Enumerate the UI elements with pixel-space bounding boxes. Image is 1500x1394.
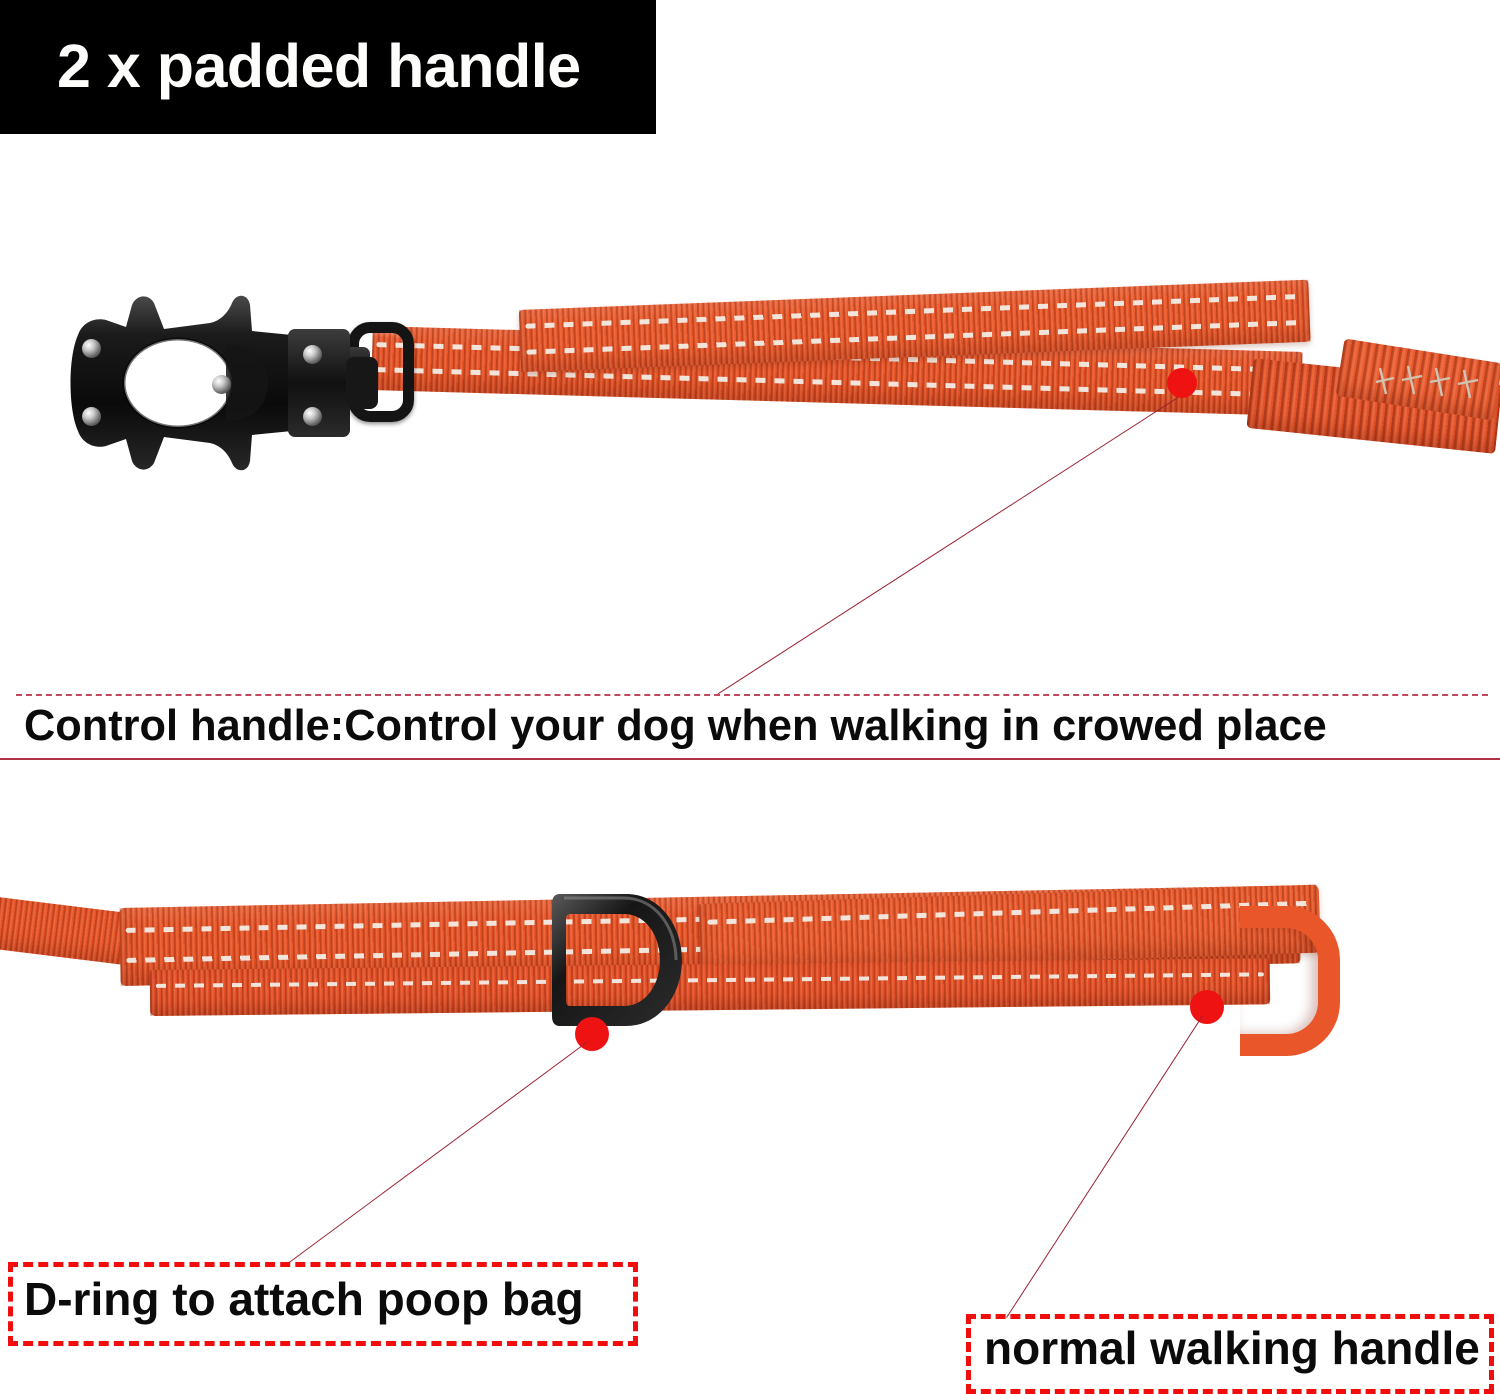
header-banner: 2 x padded handle (0, 0, 656, 134)
snap-clip-hardware (60, 283, 390, 483)
control-handle-marker (1167, 368, 1197, 398)
control-handle-caption: Control handle:Control your dog when wal… (24, 700, 1327, 752)
top-product-photo (0, 250, 1500, 550)
bottom-product-photo (0, 860, 1500, 1120)
walking-handle-caption: normal walking handle (984, 1318, 1480, 1378)
caption-bottom-rule (0, 758, 1500, 760)
caption-top-rule (16, 694, 1488, 696)
rivet (303, 407, 322, 426)
d-ring-hardware (540, 880, 690, 1040)
d-ring-caption: D-ring to attach poop bag (24, 1268, 584, 1330)
rivet (82, 339, 101, 358)
bungee-stitch-marks (1370, 360, 1500, 420)
rivet (212, 375, 231, 394)
rivet (303, 345, 322, 364)
rivet (82, 407, 101, 426)
walking-handle-marker (1190, 990, 1224, 1024)
header-banner-label: 2 x padded handle (57, 30, 581, 102)
infographic-canvas: 2 x padded handle (0, 0, 1500, 1394)
